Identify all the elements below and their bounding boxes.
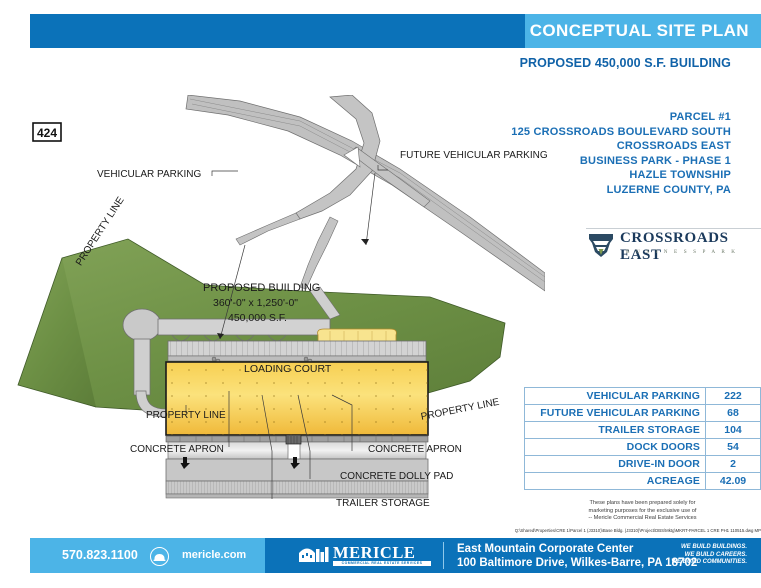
disclaimer-line-2: marketing purposes for the exclusive use… xyxy=(524,508,761,516)
stat-value: 54 xyxy=(706,439,761,456)
svg-text:424: 424 xyxy=(37,126,57,140)
mericle-logo: MERICLE COMMERCIAL REAL ESTATE SERVICES xyxy=(297,544,432,567)
footer-website-link[interactable]: mericle.com xyxy=(182,549,246,561)
building-title-label: PROPOSED BUILDING xyxy=(203,282,320,294)
callout-vehicular-parking: VEHICULAR PARKING xyxy=(97,169,201,180)
callout-concrete-apron-left: CONCRETE APRON xyxy=(130,444,224,455)
table-row: TRAILER STORAGE 104 xyxy=(525,422,761,439)
callout-concrete-apron-right: CONCRETE APRON xyxy=(368,444,462,455)
page-subtitle: PROPOSED 450,000 S.F. BUILDING xyxy=(520,56,731,70)
park-logo-name: CROSSROADS EAST xyxy=(620,230,761,264)
page-title: CONCEPTUAL SITE PLAN xyxy=(530,21,749,41)
header-band-dark xyxy=(30,14,535,48)
stat-value: 42.09 xyxy=(706,473,761,490)
stat-label: DRIVE-IN DOOR xyxy=(525,456,706,473)
loading-court-label: LOADING COURT xyxy=(244,363,331,375)
tagline-line-1: WE BUILD BUILDINGS. xyxy=(671,544,747,552)
building-area-label: 450,000 S.F. xyxy=(228,312,287,324)
site-statistics-table: VEHICULAR PARKING 222 FUTURE VEHICULAR P… xyxy=(524,387,761,490)
footer-divider xyxy=(443,542,444,569)
keystone-mark-icon xyxy=(586,230,616,258)
stat-label: ACREAGE xyxy=(525,473,706,490)
stat-value: 2 xyxy=(706,456,761,473)
table-row: ACREAGE 42.09 xyxy=(525,473,761,490)
table-row: DOCK DOORS 54 xyxy=(525,439,761,456)
route-shield-424: 424 xyxy=(33,123,61,141)
callout-concrete-dolly-pad: CONCRETE DOLLY PAD xyxy=(340,471,453,482)
trailer-storage-area xyxy=(166,481,428,498)
mericle-wordmark: MERICLE xyxy=(333,543,415,563)
highway-424 xyxy=(186,95,545,291)
crossroads-east-logo: CROSSROADS EAST B U S I N E S S P A R K xyxy=(586,228,761,262)
footer-address: East Mountain Corporate Center 100 Balti… xyxy=(457,543,697,570)
logo-divider-rule xyxy=(586,228,761,229)
footer-band-dark: MERICLE COMMERCIAL REAL ESTATE SERVICES … xyxy=(265,538,761,573)
callout-future-vehicular-parking: FUTURE VEHICULAR PARKING xyxy=(400,150,548,161)
address-line-2: 100 Baltimore Drive, Wilkes-Barre, PA 18… xyxy=(457,557,697,571)
stat-label: VEHICULAR PARKING xyxy=(525,388,706,405)
page-header: CONCEPTUAL SITE PLAN xyxy=(30,14,761,48)
disclaimer-line-1: These plans have been prepared solely fo… xyxy=(524,500,761,508)
stat-label: FUTURE VEHICULAR PARKING xyxy=(525,405,706,422)
mericle-subtitle: COMMERCIAL REAL ESTATE SERVICES xyxy=(333,561,431,566)
vehicular-parking-north xyxy=(168,341,426,363)
disclaimer-block: These plans have been prepared solely fo… xyxy=(524,500,761,523)
callout-trailer-storage: TRAILER STORAGE xyxy=(336,498,430,509)
footer-phone[interactable]: 570.823.1100 xyxy=(62,548,138,562)
stat-label: TRAILER STORAGE xyxy=(525,422,706,439)
building-dimensions-label: 360'-0" x 1,250'-0" xyxy=(213,297,298,309)
tagline-line-3: WE BUILD COMMUNITIES. xyxy=(671,559,747,567)
stat-label: DOCK DOORS xyxy=(525,439,706,456)
address-line-1: East Mountain Corporate Center xyxy=(457,543,697,557)
stat-value: 68 xyxy=(706,405,761,422)
drawing-file-path: Q:\Shared\Properties\CRE 1\Parcel 1 (J33… xyxy=(370,528,761,533)
stat-value: 104 xyxy=(706,422,761,439)
disclaimer-line-3: -- Mericle Commercial Real Estate Servic… xyxy=(524,515,761,523)
table-row: FUTURE VEHICULAR PARKING 68 xyxy=(525,405,761,422)
table-row: VEHICULAR PARKING 222 xyxy=(525,388,761,405)
stat-value: 222 xyxy=(706,388,761,405)
table-row: DRIVE-IN DOOR 2 xyxy=(525,456,761,473)
hardhat-icon xyxy=(150,547,169,566)
page-footer: MERICLE COMMERCIAL REAL ESTATE SERVICES … xyxy=(30,538,761,573)
callout-property-line-south: PROPERTY LINE xyxy=(146,410,226,421)
park-logo-subtitle: B U S I N E S S P A R K xyxy=(626,249,738,255)
mericle-building-icon xyxy=(297,544,331,564)
mericle-tagline-bar: COMMERCIAL REAL ESTATE SERVICES xyxy=(333,561,431,566)
tagline-line-2: WE BUILD CAREERS. xyxy=(671,552,747,560)
footer-tagline: WE BUILD BUILDINGS. WE BUILD CAREERS. WE… xyxy=(671,544,747,567)
